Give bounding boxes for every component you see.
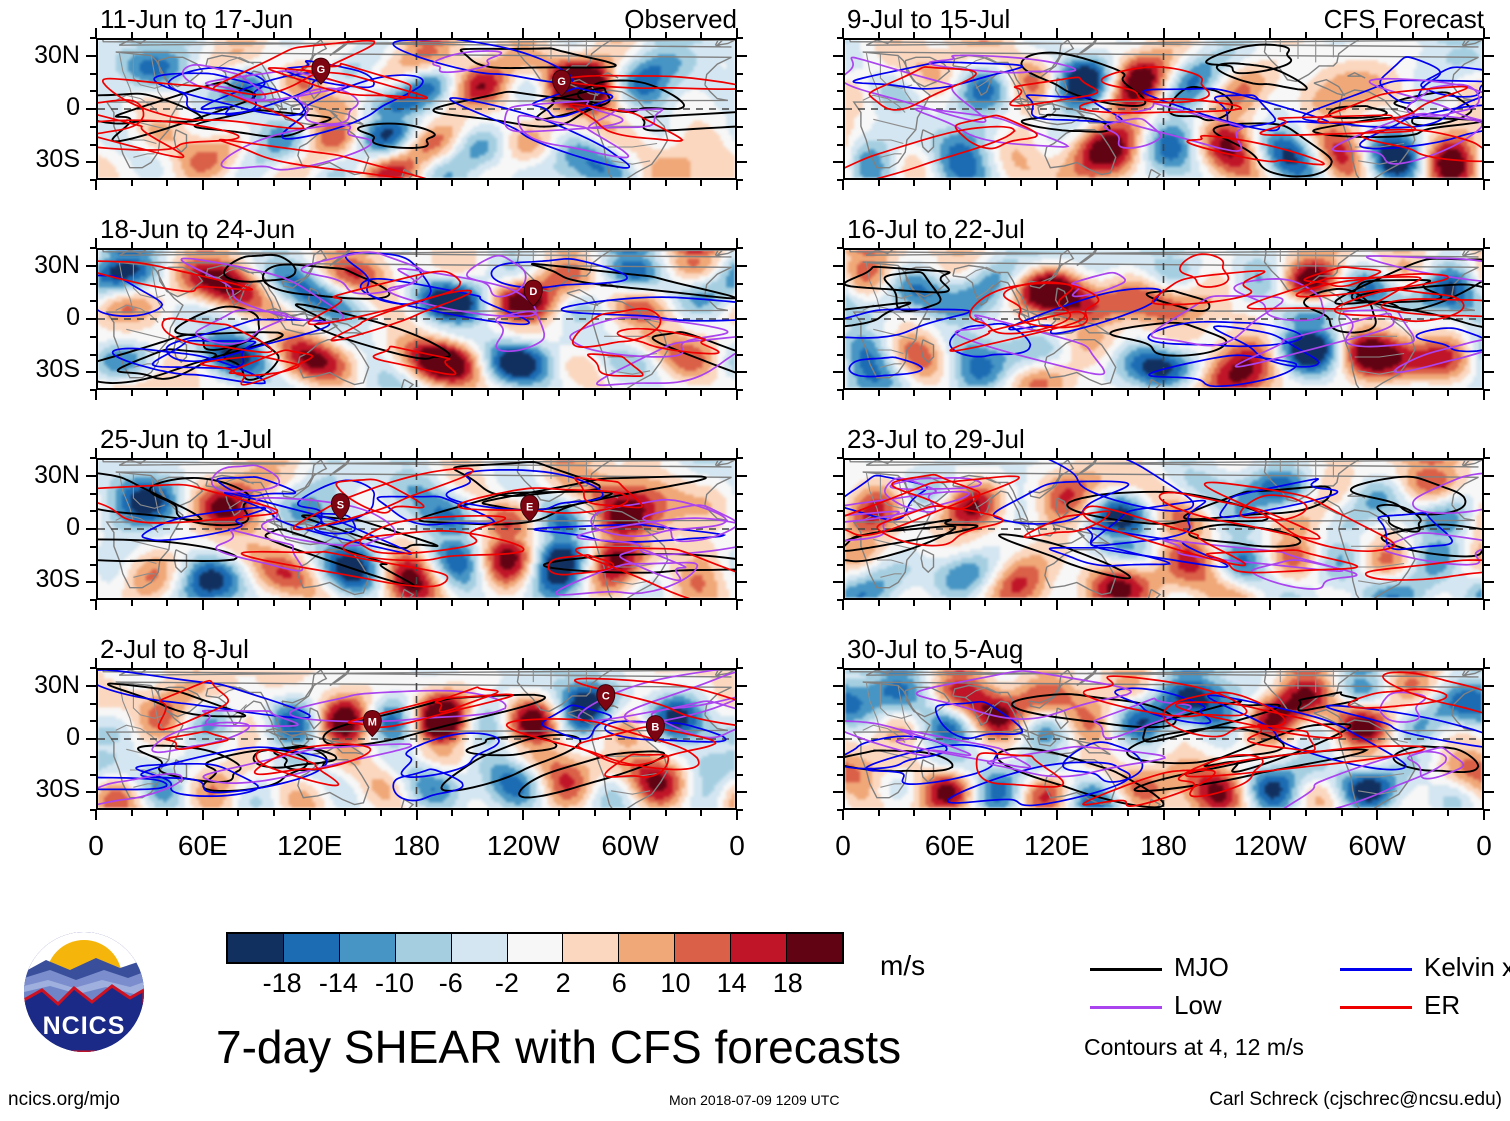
x-tick: [1127, 390, 1129, 396]
x-tick: [1056, 658, 1058, 668]
x-tick: [1091, 32, 1093, 38]
x-tick: [558, 242, 560, 248]
x-tick: [665, 600, 667, 606]
map-panel-1[interactable]: D: [96, 248, 737, 390]
y-tick: [90, 283, 96, 285]
y-tick: [90, 247, 96, 249]
y-tick: [737, 336, 743, 338]
colorbar-tick-label: 10: [660, 970, 690, 997]
y-tick: [90, 354, 96, 356]
map-field-6: [845, 460, 1482, 598]
x-tick: [1341, 390, 1343, 396]
x-tick: [1447, 390, 1449, 396]
y-tick: [837, 354, 843, 356]
x-tick: [1376, 180, 1378, 190]
x-tick: [984, 600, 986, 606]
x-tick: [237, 180, 239, 186]
x-tick: [1376, 390, 1378, 400]
x-tick: [1091, 600, 1093, 606]
map-overlay-3: MCB: [98, 670, 735, 808]
x-tick: [1198, 390, 1200, 396]
x-tick: [700, 810, 702, 816]
colorbar-bin: [395, 934, 451, 962]
panel-title-1: 18-Jun to 24-Jun: [100, 216, 295, 242]
map-panel-0[interactable]: GG: [96, 38, 737, 180]
y-tick: [737, 457, 743, 459]
x-tick: [1305, 32, 1307, 38]
x-tick: [522, 810, 524, 820]
x-tick: [416, 238, 418, 248]
x-tick: [1341, 180, 1343, 186]
x-tick: [1376, 448, 1378, 458]
x-tick: [95, 810, 97, 820]
x-tick: [273, 242, 275, 248]
y-tick: [837, 179, 843, 181]
colorbar-tick-label: -18: [263, 970, 302, 997]
x-tick: [842, 810, 844, 820]
x-tick: [1234, 452, 1236, 458]
x-tick: [166, 452, 168, 458]
y-tick: [833, 371, 843, 373]
y-tick: [737, 475, 747, 477]
storm-marker-label: M: [368, 717, 377, 729]
x-tick: [202, 600, 204, 610]
x-tick: [665, 32, 667, 38]
y-tick: [1484, 457, 1490, 459]
colorbar-bin: [730, 934, 786, 962]
x-axis-label: 0: [835, 832, 851, 860]
x-tick: [309, 600, 311, 610]
x-tick: [1234, 32, 1236, 38]
map-overlay-5: [845, 250, 1482, 388]
y-tick: [833, 581, 843, 583]
x-tick: [1163, 810, 1165, 820]
map-panel-5[interactable]: [843, 248, 1484, 390]
y-tick: [833, 791, 843, 793]
x-tick: [344, 662, 346, 668]
x-tick: [949, 600, 951, 610]
y-tick: [737, 318, 747, 320]
x-tick: [202, 180, 204, 190]
map-panel-4[interactable]: [843, 38, 1484, 180]
x-tick: [416, 600, 418, 610]
y-axis-label: 30S: [36, 567, 80, 592]
x-tick: [1305, 242, 1307, 248]
panel-title-6: 23-Jul to 29-Jul: [847, 426, 1025, 452]
y-tick: [1484, 389, 1490, 391]
x-tick: [878, 242, 880, 248]
x-tick: [344, 452, 346, 458]
x-tick: [949, 658, 951, 668]
column-header-observed: Observed: [624, 6, 737, 32]
x-tick: [416, 448, 418, 458]
y-tick: [86, 161, 96, 163]
x-tick: [202, 448, 204, 458]
x-tick: [1091, 242, 1093, 248]
panel-title-3: 2-Jul to 8-Jul: [100, 636, 249, 662]
x-axis-label: 60W: [601, 832, 659, 860]
x-tick: [949, 180, 951, 190]
legend-line-low: [1090, 1006, 1162, 1009]
y-tick: [90, 336, 96, 338]
x-tick: [1198, 810, 1200, 816]
x-tick: [380, 600, 382, 606]
y-tick: [737, 791, 747, 793]
y-tick: [737, 371, 747, 373]
colorbar-tick-label: 2: [556, 970, 571, 997]
legend-label-low: Low: [1174, 992, 1222, 1018]
x-tick: [131, 390, 133, 396]
x-tick: [1020, 810, 1022, 816]
y-tick: [90, 667, 96, 669]
y-tick: [1484, 371, 1494, 373]
map-panel-7[interactable]: [843, 668, 1484, 810]
x-tick: [522, 238, 524, 248]
y-tick: [737, 126, 743, 128]
colorbar-bin: [674, 934, 730, 962]
x-tick: [166, 810, 168, 816]
y-tick: [737, 144, 743, 146]
y-tick: [833, 528, 843, 530]
y-tick: [90, 300, 96, 302]
x-axis-label: 180: [1140, 832, 1187, 860]
x-tick: [95, 390, 97, 400]
map-panel-3[interactable]: MCB: [96, 668, 737, 810]
x-tick: [1020, 242, 1022, 248]
storm-marker[interactable]: M: [363, 711, 381, 737]
y-tick: [737, 528, 747, 530]
x-tick: [878, 180, 880, 186]
x-tick: [1198, 242, 1200, 248]
y-tick: [86, 371, 96, 373]
y-tick: [737, 283, 743, 285]
x-tick: [629, 448, 631, 458]
y-tick: [1484, 720, 1490, 722]
panel-title-4: 9-Jul to 15-Jul: [847, 6, 1010, 32]
footer-link[interactable]: ncics.org/mjo: [8, 1090, 120, 1109]
x-tick: [131, 180, 133, 186]
x-tick: [1020, 180, 1022, 186]
y-tick: [833, 738, 843, 740]
y-tick: [90, 457, 96, 459]
y-tick: [737, 90, 743, 92]
x-tick: [736, 180, 738, 190]
colorbar-tick-label: 18: [773, 970, 803, 997]
x-tick: [416, 180, 418, 190]
y-axis-label: 0: [66, 515, 80, 540]
x-tick: [131, 242, 133, 248]
y-tick: [90, 73, 96, 75]
x-tick: [1483, 810, 1485, 820]
x-tick: [913, 662, 915, 668]
x-tick: [1127, 600, 1129, 606]
x-tick: [558, 32, 560, 38]
x-tick: [166, 32, 168, 38]
x-tick: [629, 238, 631, 248]
x-tick: [1483, 390, 1485, 400]
map-field-4: [845, 40, 1482, 178]
footer-author: Carl Schreck (cjschrec@ncsu.edu): [1209, 1090, 1502, 1109]
y-axis-label: 0: [66, 305, 80, 330]
x-tick: [1091, 180, 1093, 186]
y-tick: [1484, 738, 1494, 740]
x-tick: [736, 810, 738, 820]
x-tick: [451, 242, 453, 248]
x-tick: [629, 28, 631, 38]
x-tick: [522, 658, 524, 668]
x-tick: [273, 32, 275, 38]
x-tick: [700, 662, 702, 668]
x-tick: [237, 600, 239, 606]
y-axis-label: 30N: [34, 253, 80, 278]
y-tick: [833, 475, 843, 477]
x-tick: [487, 452, 489, 458]
x-tick: [95, 600, 97, 610]
y-tick: [90, 37, 96, 39]
x-tick: [1341, 242, 1343, 248]
x-tick: [237, 452, 239, 458]
y-tick: [1484, 55, 1494, 57]
x-tick: [1305, 390, 1307, 396]
panel-title-5: 16-Jul to 22-Jul: [847, 216, 1025, 242]
x-tick: [1234, 242, 1236, 248]
x-tick: [984, 452, 986, 458]
x-axis-label: 60W: [1348, 832, 1406, 860]
x-tick: [842, 180, 844, 190]
x-tick: [309, 810, 311, 820]
storm-marker[interactable]: D: [524, 280, 542, 306]
y-tick: [90, 179, 96, 181]
x-tick: [1198, 452, 1200, 458]
x-tick: [1234, 600, 1236, 606]
x-tick: [344, 390, 346, 396]
y-tick: [837, 247, 843, 249]
x-tick: [665, 452, 667, 458]
x-tick: [451, 810, 453, 816]
x-tick: [487, 390, 489, 396]
x-tick: [1198, 32, 1200, 38]
x-tick: [1056, 28, 1058, 38]
x-axis-label: 60E: [925, 832, 975, 860]
x-tick: [700, 600, 702, 606]
y-tick: [1484, 564, 1490, 566]
y-tick: [1484, 126, 1490, 128]
colorbar-tick-label: -10: [375, 970, 414, 997]
x-axis-label: 0: [729, 832, 745, 860]
x-tick: [522, 600, 524, 610]
x-tick: [451, 662, 453, 668]
x-tick: [1447, 600, 1449, 606]
y-tick: [837, 809, 843, 811]
x-tick: [487, 32, 489, 38]
y-tick: [833, 685, 843, 687]
y-tick: [833, 55, 843, 57]
y-tick: [90, 809, 96, 811]
legend-label-kelvin-x2: Kelvin x2: [1424, 954, 1510, 980]
x-tick: [522, 180, 524, 190]
x-tick: [700, 242, 702, 248]
x-tick: [878, 390, 880, 396]
colorbar-bin: [228, 934, 283, 962]
y-tick: [737, 685, 747, 687]
map-field-1: D: [98, 250, 735, 388]
x-tick: [273, 390, 275, 396]
y-tick: [737, 265, 747, 267]
y-tick: [737, 354, 743, 356]
colorbar-tick-label: 6: [612, 970, 627, 997]
x-tick: [1234, 810, 1236, 816]
y-tick: [737, 546, 743, 548]
x-tick: [1341, 600, 1343, 606]
x-tick: [984, 32, 986, 38]
x-tick: [487, 600, 489, 606]
y-tick: [86, 318, 96, 320]
map-panel-6[interactable]: [843, 458, 1484, 600]
x-tick: [1376, 238, 1378, 248]
x-tick: [1412, 32, 1414, 38]
x-tick: [629, 658, 631, 668]
x-tick: [878, 32, 880, 38]
y-tick: [833, 108, 843, 110]
x-tick: [1305, 180, 1307, 186]
y-tick: [837, 493, 843, 495]
y-tick: [837, 599, 843, 601]
x-tick: [878, 600, 880, 606]
x-tick: [594, 180, 596, 186]
legend-line-er: [1340, 1006, 1412, 1009]
column-header-cfs-forecast: CFS Forecast: [1324, 6, 1484, 32]
x-tick: [1412, 810, 1414, 816]
x-tick: [380, 32, 382, 38]
y-tick: [737, 809, 743, 811]
x-tick: [1020, 452, 1022, 458]
y-tick: [837, 144, 843, 146]
colorbar-bin: [451, 934, 507, 962]
x-tick: [1269, 28, 1271, 38]
colorbar-bin: [283, 934, 339, 962]
x-tick: [1198, 662, 1200, 668]
storm-marker[interactable]: E: [521, 495, 539, 521]
x-tick: [1020, 390, 1022, 396]
y-tick: [90, 126, 96, 128]
x-tick: [1305, 452, 1307, 458]
x-tick: [1447, 242, 1449, 248]
panel-title-2: 25-Jun to 1-Jul: [100, 426, 272, 452]
x-tick: [700, 452, 702, 458]
y-tick: [1484, 265, 1494, 267]
x-tick: [1305, 810, 1307, 816]
x-tick: [558, 600, 560, 606]
storm-marker-label: E: [526, 501, 533, 513]
y-tick: [737, 510, 743, 512]
x-tick: [1447, 662, 1449, 668]
y-tick: [90, 720, 96, 722]
x-tick: [166, 390, 168, 396]
y-tick: [737, 564, 743, 566]
x-tick: [380, 662, 382, 668]
x-tick: [736, 600, 738, 610]
x-tick: [1127, 180, 1129, 186]
x-tick: [1198, 600, 1200, 606]
x-tick: [913, 452, 915, 458]
x-tick: [202, 658, 204, 668]
x-tick: [451, 390, 453, 396]
x-axis-label: 120W: [487, 832, 560, 860]
x-tick: [558, 810, 560, 816]
x-tick: [380, 180, 382, 186]
x-tick: [309, 180, 311, 190]
y-axis-label: 30S: [36, 147, 80, 172]
x-tick: [558, 390, 560, 396]
x-tick: [522, 28, 524, 38]
y-tick: [86, 791, 96, 793]
x-tick: [1127, 242, 1129, 248]
x-tick: [309, 238, 311, 248]
y-tick: [90, 90, 96, 92]
y-tick: [737, 73, 743, 75]
y-tick: [1484, 37, 1490, 39]
x-tick: [344, 600, 346, 606]
x-tick: [1447, 452, 1449, 458]
y-tick: [833, 318, 843, 320]
storm-marker-label: G: [317, 64, 326, 76]
y-tick: [86, 108, 96, 110]
x-tick: [131, 600, 133, 606]
x-tick: [166, 600, 168, 606]
x-tick: [1056, 448, 1058, 458]
x-tick: [1447, 32, 1449, 38]
y-tick: [1484, 247, 1490, 249]
x-tick: [1305, 662, 1307, 668]
y-tick: [737, 738, 747, 740]
x-tick: [451, 32, 453, 38]
y-tick: [737, 667, 743, 669]
x-tick: [166, 180, 168, 186]
x-tick: [202, 390, 204, 400]
contour-group-low: [181, 252, 735, 385]
x-tick: [1163, 658, 1165, 668]
x-tick: [1234, 180, 1236, 186]
x-tick: [984, 242, 986, 248]
y-tick: [837, 73, 843, 75]
y-tick: [837, 300, 843, 302]
x-tick: [273, 452, 275, 458]
x-tick: [1376, 600, 1378, 610]
colorbar-bin: [562, 934, 618, 962]
y-axis-label: 30S: [36, 777, 80, 802]
x-tick: [1163, 448, 1165, 458]
x-axis-label: 120E: [277, 832, 342, 860]
x-tick: [1269, 238, 1271, 248]
x-axis-label: 0: [88, 832, 104, 860]
x-tick: [522, 390, 524, 400]
storm-marker[interactable]: G: [553, 70, 571, 96]
y-tick: [90, 389, 96, 391]
x-tick: [1376, 810, 1378, 820]
y-tick: [90, 703, 96, 705]
y-tick: [1484, 528, 1494, 530]
x-tick: [131, 810, 133, 816]
main-title: 7-day SHEAR with CFS forecasts: [216, 1024, 901, 1070]
y-tick: [86, 685, 96, 687]
x-tick: [913, 810, 915, 816]
x-tick: [380, 810, 382, 816]
y-tick: [737, 493, 743, 495]
map-panel-2[interactable]: SE: [96, 458, 737, 600]
x-tick: [1020, 32, 1022, 38]
x-axis-label: 0: [1476, 832, 1492, 860]
x-tick: [913, 242, 915, 248]
